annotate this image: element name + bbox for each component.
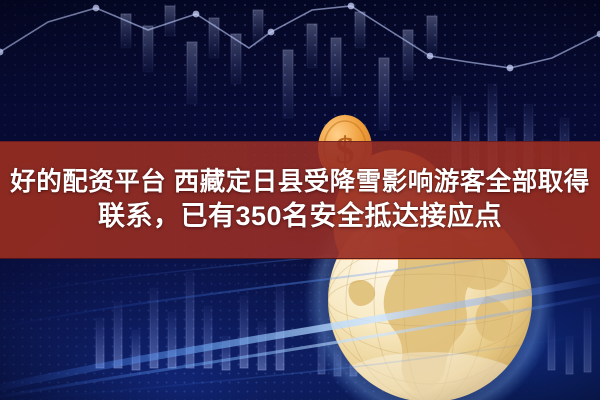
headline-band: 好的配资平台 西藏定日县受降雪影响游客全部取得 联系，已有350名安全抵达接应点	[0, 141, 600, 259]
headline-line-2: 联系，已有350名安全抵达接应点	[98, 199, 502, 234]
news-banner: $ $	[0, 0, 600, 400]
headline-line-1: 好的配资平台 西藏定日县受降雪影响游客全部取得	[10, 166, 590, 199]
